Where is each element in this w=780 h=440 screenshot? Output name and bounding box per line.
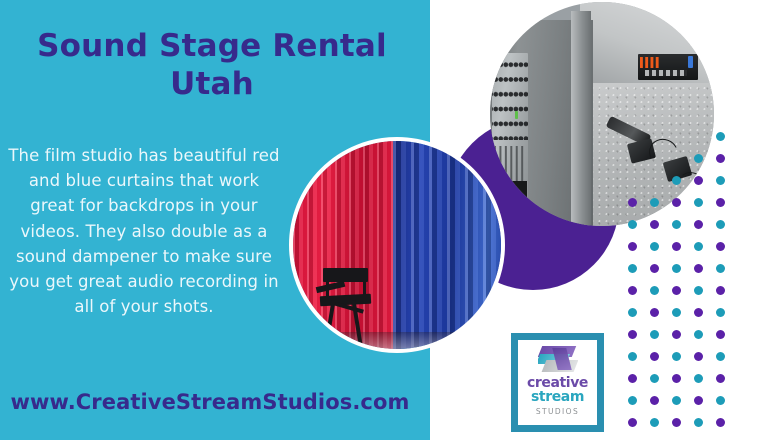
grid-dot xyxy=(628,286,637,295)
grid-dot xyxy=(716,264,725,273)
studio-curtains-photo xyxy=(289,137,505,353)
grid-dot xyxy=(628,264,637,273)
grid-dot xyxy=(694,198,703,207)
mixer-green-indicator xyxy=(515,111,518,119)
grid-dot xyxy=(628,352,637,361)
mixer-scene xyxy=(490,2,714,226)
chair-armrest xyxy=(316,281,345,293)
grid-dot xyxy=(716,308,725,317)
rack-blue-led xyxy=(688,56,693,68)
grid-dot xyxy=(694,242,703,251)
chair-backrest xyxy=(323,268,368,281)
grid-dot xyxy=(716,154,725,163)
grid-dot xyxy=(672,264,681,273)
grid-dot xyxy=(672,198,681,207)
grid-dot xyxy=(628,330,637,339)
grid-dot xyxy=(650,308,659,317)
audio-mixer-photo xyxy=(490,2,714,226)
grid-dot xyxy=(694,286,703,295)
cabinet-frame xyxy=(571,11,591,226)
grid-dot xyxy=(694,308,703,317)
grid-dot xyxy=(628,220,637,229)
logo-word-creative: creative xyxy=(527,376,588,390)
chair-leg-left xyxy=(325,300,336,345)
grid-dot xyxy=(672,220,681,229)
dot-grid-pattern xyxy=(628,198,730,440)
grid-dot xyxy=(650,352,659,361)
brand-logo-badge[interactable]: creative stream STUDIOS xyxy=(511,333,604,432)
grid-dot xyxy=(716,242,725,251)
grid-dot xyxy=(650,220,659,229)
grid-dot xyxy=(694,154,703,163)
grid-dot xyxy=(694,396,703,405)
creative-stream-studios-mark-icon xyxy=(538,345,578,373)
grid-dot xyxy=(628,396,637,405)
grid-dot xyxy=(716,330,725,339)
headline-line-2: Utah xyxy=(12,66,412,104)
logo-word-studios: STUDIOS xyxy=(536,407,579,416)
grid-dot xyxy=(716,132,725,141)
grid-dot xyxy=(716,374,725,383)
grid-dot xyxy=(694,374,703,383)
grid-dot xyxy=(694,176,703,185)
grid-dot xyxy=(650,198,659,207)
chair-leg-right xyxy=(351,300,362,345)
grid-dot xyxy=(716,352,725,361)
grid-dot xyxy=(650,264,659,273)
grid-dot xyxy=(650,286,659,295)
grid-dot xyxy=(650,396,659,405)
grid-dot xyxy=(628,198,637,207)
rack-led-indicators xyxy=(640,57,661,68)
grid-dot xyxy=(628,308,637,317)
grid-dot xyxy=(716,418,725,427)
logo-word-stream: stream xyxy=(531,390,584,405)
grid-dot xyxy=(672,374,681,383)
mixer-knobs xyxy=(492,53,528,140)
grid-dot xyxy=(628,374,637,383)
social-graphic-canvas: Sound Stage Rental Utah The film studio … xyxy=(0,0,780,440)
grid-dot xyxy=(694,352,703,361)
rack-label xyxy=(645,70,687,76)
rack-unit xyxy=(638,54,698,81)
grid-dot xyxy=(672,330,681,339)
website-url[interactable]: www.CreativeStreamStudios.com xyxy=(8,390,412,414)
page-title: Sound Stage Rental Utah xyxy=(12,28,412,104)
grid-dot xyxy=(694,330,703,339)
grid-dot xyxy=(716,220,725,229)
logo-card: creative stream STUDIOS xyxy=(518,340,597,425)
grid-dot xyxy=(650,242,659,251)
grid-dot xyxy=(694,264,703,273)
grid-dot xyxy=(672,396,681,405)
grid-dot xyxy=(628,418,637,427)
grid-dot xyxy=(716,396,725,405)
grid-dot xyxy=(694,220,703,229)
grid-dot xyxy=(672,286,681,295)
grid-dot xyxy=(628,242,637,251)
body-paragraph: The film studio has beautiful red and bl… xyxy=(8,143,280,320)
headline-line-1: Sound Stage Rental xyxy=(12,28,412,66)
grid-dot xyxy=(672,308,681,317)
directors-chair xyxy=(316,262,378,345)
grid-dot xyxy=(694,418,703,427)
grid-dot xyxy=(672,242,681,251)
grid-dot xyxy=(650,374,659,383)
grid-dot xyxy=(672,176,681,185)
grid-dot xyxy=(716,198,725,207)
grid-dot xyxy=(672,418,681,427)
blue-curtain xyxy=(393,141,501,349)
grid-dot xyxy=(650,330,659,339)
grid-dot xyxy=(650,418,659,427)
grid-dot xyxy=(672,352,681,361)
grid-dot xyxy=(716,176,725,185)
grid-dot xyxy=(716,286,725,295)
